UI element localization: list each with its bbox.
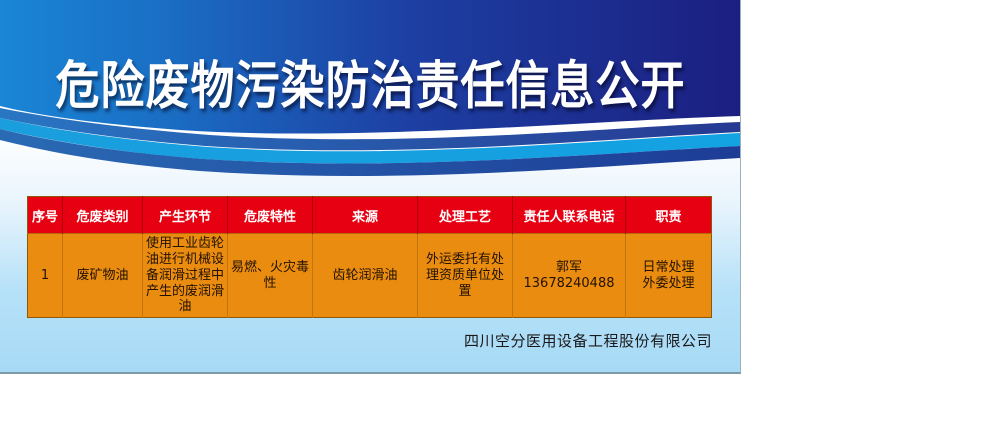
table-header-危废特性: 危废特性	[228, 197, 313, 234]
table-row: 1 废矿物油 使用工业齿轮油进行机械设备润滑过程中产生的废润滑油 易燃、火灾毒性…	[28, 234, 712, 318]
poster-board: 危险废物污染防治责任信息公开 序号 危废类别 产生环节 危废特性 来源 处理工艺…	[0, 0, 741, 374]
duty-line-1: 日常处理	[629, 260, 708, 276]
cell-waste-category: 废矿物油	[63, 234, 143, 318]
info-table-container: 序号 危废类别 产生环节 危废特性 来源 处理工艺 责任人联系电话 职责 1 废…	[27, 196, 711, 318]
cell-responsible-person-contact: 郭军 13678240488	[513, 234, 626, 318]
company-name: 四川空分医用设备工程股份有限公司	[0, 330, 712, 351]
table-header-职责: 职责	[626, 197, 712, 234]
cell-serial-number: 1	[28, 234, 63, 318]
table-header-责任人联系电话: 责任人联系电话	[513, 197, 626, 234]
hazardous-waste-table: 序号 危废类别 产生环节 危废特性 来源 处理工艺 责任人联系电话 职责 1 废…	[27, 196, 712, 318]
banner-header: 危险废物污染防治责任信息公开	[0, 0, 741, 185]
table-header-序号: 序号	[28, 197, 63, 234]
table-header-来源: 来源	[313, 197, 418, 234]
cell-source: 齿轮润滑油	[313, 234, 418, 318]
table-header-产生环节: 产生环节	[143, 197, 228, 234]
table-header-处理工艺: 处理工艺	[418, 197, 513, 234]
cell-generation-stage: 使用工业齿轮油进行机械设备润滑过程中产生的废润滑油	[143, 234, 228, 318]
cell-duties: 日常处理 外委处理	[626, 234, 712, 318]
responsible-person-name: 郭军	[516, 260, 622, 276]
table-header-危废类别: 危废类别	[63, 197, 143, 234]
banner-wave-graphic	[0, 0, 741, 185]
table-header-row: 序号 危废类别 产生环节 危废特性 来源 处理工艺 责任人联系电话 职责	[28, 197, 712, 234]
cell-waste-characteristics: 易燃、火灾毒性	[228, 234, 313, 318]
cell-treatment-process: 外运委托有处理资质单位处置	[418, 234, 513, 318]
responsible-person-phone: 13678240488	[516, 276, 622, 292]
duty-line-2: 外委处理	[629, 276, 708, 292]
